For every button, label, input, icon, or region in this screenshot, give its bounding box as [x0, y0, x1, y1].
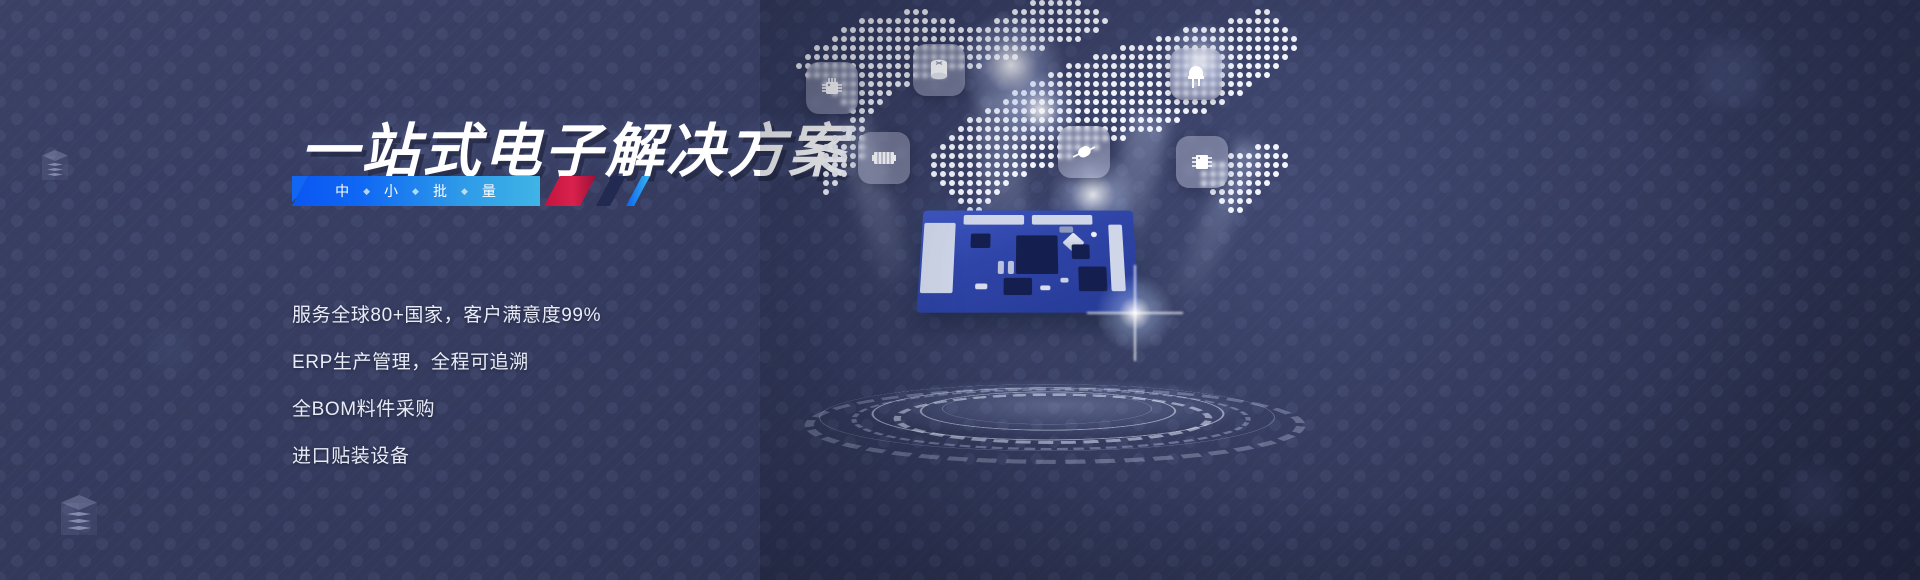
banner-copy: 一站式电子解决方案 中 ◆ 小 ◆ 批 ◆ 量 服务全球80+国家，客户满意度9… [0, 0, 820, 580]
ribbon-cyan-accent [626, 176, 650, 206]
diamond-separator-icon: ◆ [412, 186, 420, 197]
diamond-separator-icon: ◆ [363, 186, 371, 197]
ribbon-red-accent [544, 176, 596, 206]
hero-banner: 一站式电子解决方案 中 ◆ 小 ◆ 批 ◆ 量 服务全球80+国家，客户满意度9… [0, 0, 1920, 580]
keyword-ribbon: 中 ◆ 小 ◆ 批 ◆ 量 [292, 176, 652, 206]
ribbon-keywords: 中 ◆ 小 ◆ 批 ◆ 量 [335, 181, 497, 201]
ribbon-blue-bar: 中 ◆ 小 ◆ 批 ◆ 量 [292, 176, 540, 206]
ribbon-keyword-1: 中 [335, 181, 350, 201]
feature-item: 服务全球80+国家，客户满意度99% [292, 300, 601, 327]
ribbon-navy-accent [596, 176, 626, 206]
vignette-overlay [760, 0, 1920, 580]
banner-visual [760, 0, 1920, 580]
feature-item: 全BOM料件采购 [292, 394, 601, 421]
diamond-separator-icon: ◆ [461, 186, 469, 197]
ribbon-keyword-4: 量 [482, 181, 497, 201]
feature-item: ERP生产管理，全程可追溯 [292, 347, 601, 374]
ribbon-keyword-3: 批 [433, 181, 448, 201]
ribbon-keyword-2: 小 [384, 181, 399, 201]
feature-list: 服务全球80+国家，客户满意度99% ERP生产管理，全程可追溯 全BOM料件采… [292, 300, 601, 488]
feature-item: 进口贴装设备 [292, 441, 601, 468]
